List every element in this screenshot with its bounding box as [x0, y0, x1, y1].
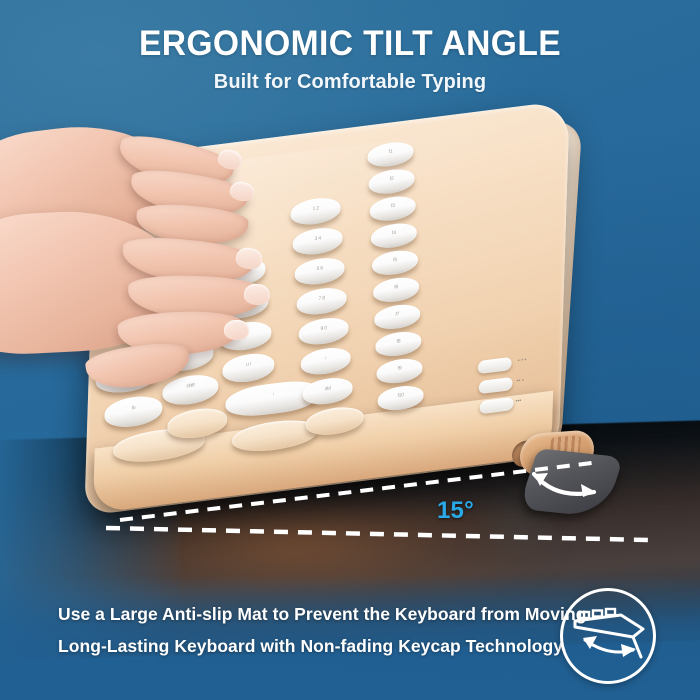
keycap: f9 [376, 357, 422, 386]
keycap: f3 [370, 194, 416, 223]
keyboard-rubber-foot [518, 448, 623, 517]
page-subtitle: Built for Comfortable Typing [0, 71, 700, 94]
side-button [478, 357, 512, 374]
keycap: f2 [368, 167, 414, 196]
side-button [478, 377, 512, 394]
keycap: f6 [373, 275, 419, 304]
side-button-label: • • • [517, 357, 526, 364]
keycap: f5 [372, 248, 418, 277]
product-banner: ctrl fn z x a s shift q w e r t y u i ↑ [0, 0, 700, 700]
keyboard-side-buttons: • • • •• • ••• [474, 350, 567, 432]
keycap: f8 [375, 329, 421, 358]
keycap: f10 [377, 384, 423, 413]
fingernail [243, 283, 270, 306]
side-button-label: ••• [515, 398, 521, 405]
badge-key [606, 609, 615, 615]
page-title: ERGONOMIC TILT ANGLE [14, 25, 686, 63]
badge-glyph [563, 591, 653, 681]
typing-hands [0, 120, 350, 420]
side-button [479, 397, 513, 414]
header: ERGONOMIC TILT ANGLE Built for Comfortab… [0, 0, 700, 94]
keycap: f1 [367, 140, 413, 169]
side-button-label: •• • [516, 378, 524, 385]
keycap: f4 [371, 221, 417, 250]
badge-key [593, 611, 602, 617]
keycap: f7 [374, 302, 420, 331]
badge-key [580, 612, 589, 618]
fingernail [224, 320, 249, 340]
badge-leg [633, 637, 641, 657]
keyboard-tilt-badge-icon [560, 588, 656, 684]
